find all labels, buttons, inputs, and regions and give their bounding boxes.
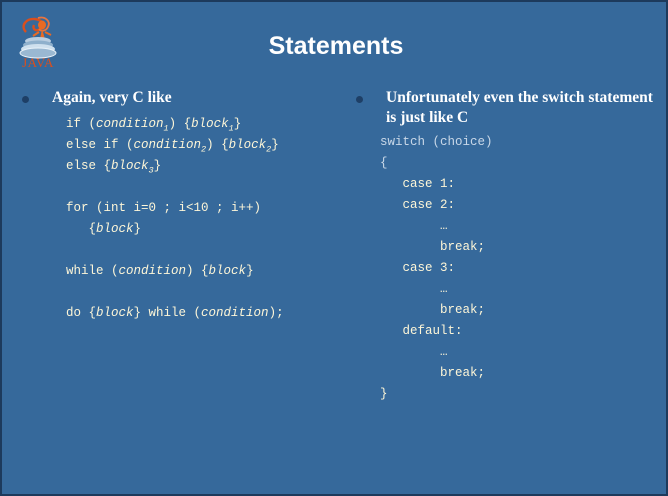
code-line-open-brace: { [380,153,662,174]
left-bullet-item: Again, very C like [16,88,338,108]
code-token: block [229,138,267,152]
bullet-dot-icon [356,96,363,103]
code-token: condition [201,306,269,320]
code-token: } [154,159,162,173]
code-token: ) { [169,117,192,131]
code-line-break-1: break; [380,237,662,258]
code-token: block [96,222,134,236]
code-line-case-2: case 2: [380,195,662,216]
code-line-else: else {block3} [66,156,338,177]
slide-canvas: JAVA Statements Again, very C like if (c… [0,0,668,496]
bullet-dot-icon [22,96,29,103]
code-token: do { [66,306,96,320]
code-token: { [66,222,96,236]
right-code-block: switch (choice){ case 1: case 2: … break… [380,132,662,405]
left-code-block: if (condition1) {block1}else if (conditi… [66,114,338,324]
code-token: } while ( [134,306,202,320]
code-line-case-1: case 1: [380,174,662,195]
code-line-for-body: {block} [66,219,338,240]
code-token: else { [66,159,111,173]
code-line-break-2: break; [380,300,662,321]
code-token: while ( [66,264,119,278]
left-heading: Again, very C like [52,88,338,108]
code-line-case-3: case 3: [380,258,662,279]
right-column: Unfortunately even the switch statement … [350,88,662,405]
right-bullet-item: Unfortunately even the switch statement … [350,88,662,128]
code-line-ellipsis-2: … [380,279,662,300]
code-token: ) { [206,138,229,152]
code-token: condition [96,117,164,131]
code-line-for: for (int i=0 ; i<10 ; i++) [66,198,338,219]
code-token: for (int i=0 ; i<10 ; i++) [66,201,261,215]
code-line-do-while: do {block} while (condition); [66,303,338,324]
code-token: if ( [66,117,96,131]
code-line-blank-3 [66,282,338,303]
code-token: } [246,264,254,278]
code-line-close-brace: } [380,384,662,405]
code-token: } [271,138,279,152]
code-token: block [96,306,134,320]
code-line-ellipsis-1: … [380,216,662,237]
code-line-default: default: [380,321,662,342]
code-line-break-3: break; [380,363,662,384]
right-heading: Unfortunately even the switch statement … [386,88,662,128]
code-token: ); [269,306,284,320]
code-token: condition [134,138,202,152]
code-line-ellipsis-3: … [380,342,662,363]
code-line-else-if: else if (condition2) {block2} [66,135,338,156]
code-line-while: while (condition) {block} [66,261,338,282]
code-token: block [209,264,247,278]
code-token: condition [119,264,187,278]
code-token: } [234,117,242,131]
left-column: Again, very C like if (condition1) {bloc… [16,88,338,324]
code-token: } [134,222,142,236]
code-line-blank-1 [66,177,338,198]
code-line-if: if (condition1) {block1} [66,114,338,135]
code-line-switch: switch (choice) [380,132,662,153]
code-token: block [191,117,229,131]
code-token: ) { [186,264,209,278]
code-line-blank-2 [66,240,338,261]
code-token: else if ( [66,138,134,152]
page-title: Statements [2,32,668,61]
code-token: block [111,159,149,173]
